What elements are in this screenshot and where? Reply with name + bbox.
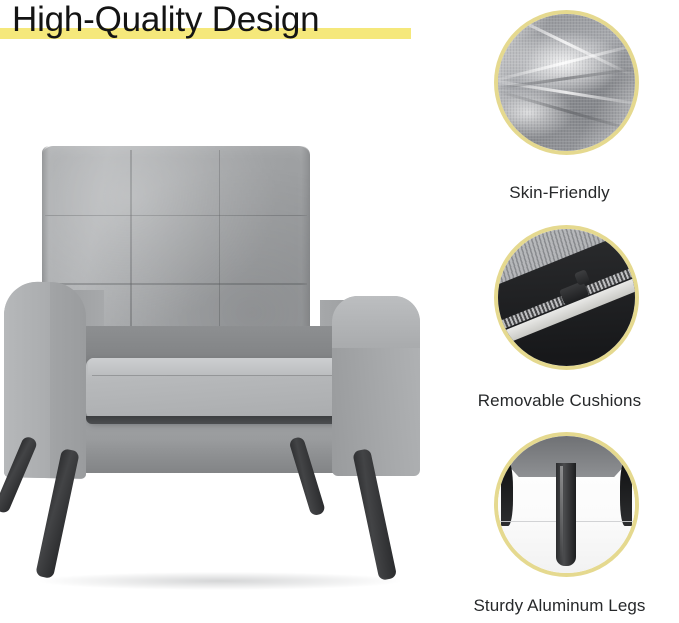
chair-floor-shadow bbox=[40, 572, 400, 590]
feature-list: Skin-Friendly Removable Cushions bbox=[440, 0, 679, 623]
fabric-texture-icon bbox=[494, 10, 639, 155]
page-title: High-Quality Design bbox=[12, 0, 319, 42]
chair-armrest-left bbox=[4, 281, 86, 479]
feature-label-removable-cushions: Removable Cushions bbox=[440, 391, 679, 411]
zipper-icon bbox=[494, 225, 639, 370]
chair-leg-icon bbox=[494, 432, 639, 577]
title-block: High-Quality Design bbox=[0, 0, 420, 48]
product-infographic: High-Quality Design bbox=[0, 0, 679, 623]
chair-armrest-right bbox=[332, 296, 420, 476]
chair-product-image bbox=[0, 120, 440, 623]
feature-label-sturdy-aluminum-legs: Sturdy Aluminum Legs bbox=[440, 596, 679, 616]
feature-label-skin-friendly: Skin-Friendly bbox=[440, 183, 679, 203]
